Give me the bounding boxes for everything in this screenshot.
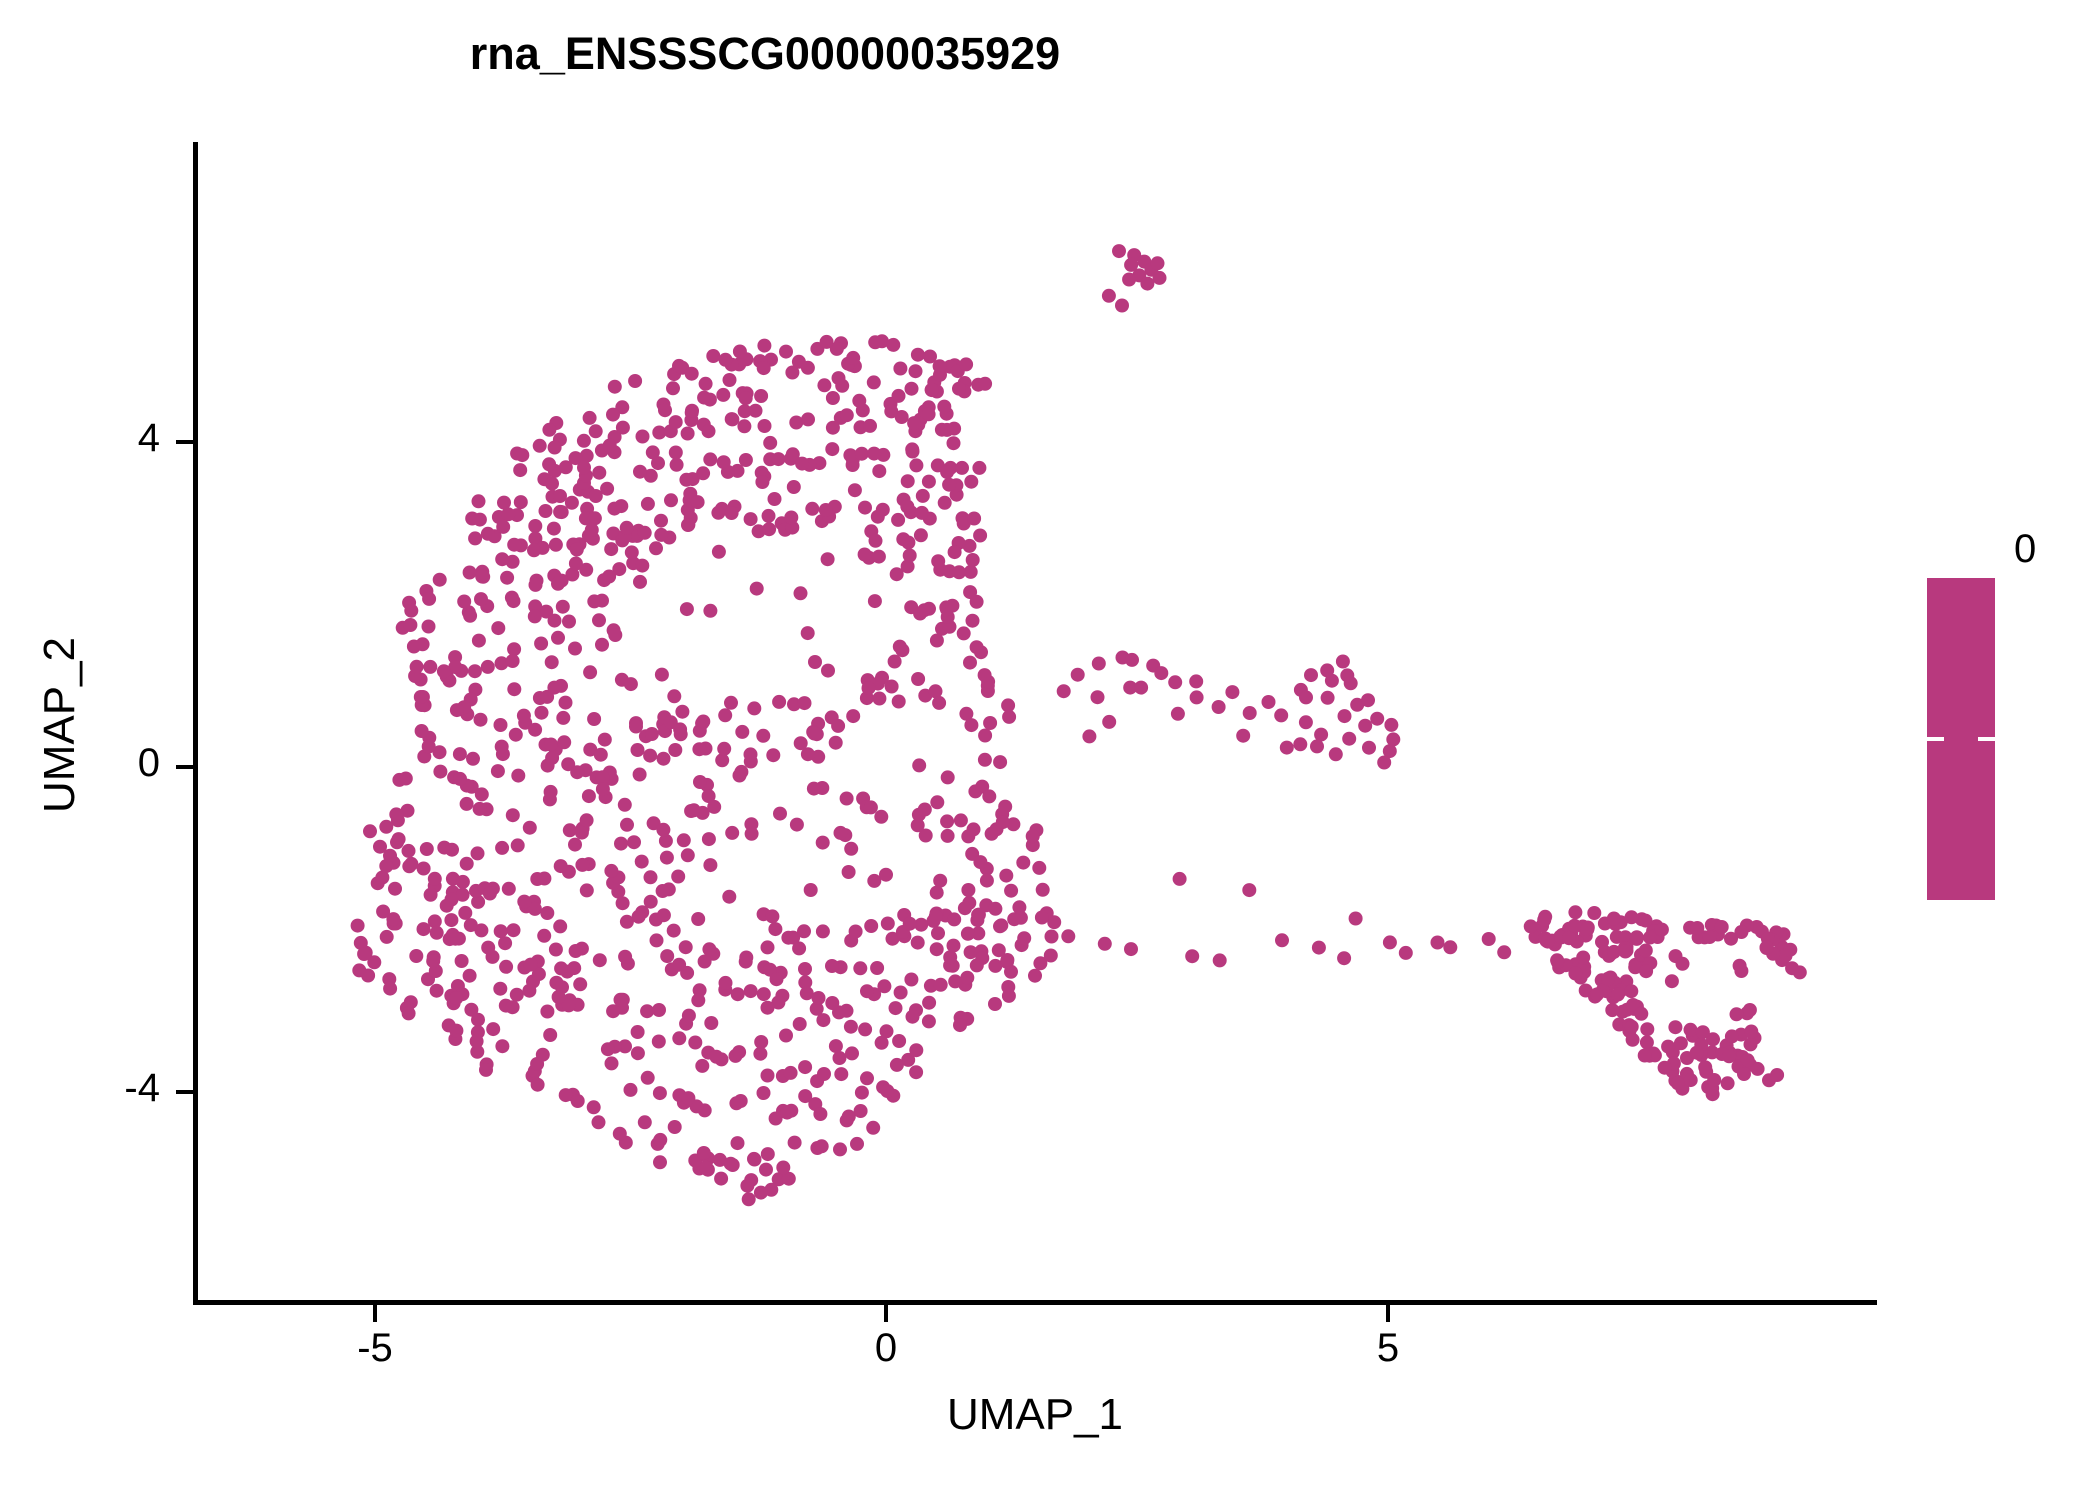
scatter-point	[761, 1147, 775, 1161]
scatter-point	[429, 964, 443, 978]
scatter-point	[1338, 709, 1352, 723]
scatter-point	[918, 404, 932, 418]
scatter-point	[571, 998, 585, 1012]
scatter-point	[725, 358, 739, 372]
scatter-point	[1760, 940, 1774, 954]
scatter-point	[529, 578, 543, 592]
scatter-point	[825, 996, 839, 1010]
scatter-point	[723, 373, 737, 387]
scatter-point	[657, 398, 671, 412]
scatter-point	[596, 770, 610, 784]
scatter-point	[748, 1153, 762, 1167]
scatter-point	[896, 532, 910, 546]
scatter-point	[546, 490, 560, 504]
scatter-point	[732, 1045, 746, 1059]
scatter-point	[486, 1022, 500, 1036]
scatter-point	[684, 511, 698, 525]
scatter-point	[992, 943, 1006, 957]
scatter-point	[357, 947, 371, 961]
scatter-point	[940, 814, 954, 828]
scatter-point	[699, 377, 713, 391]
scatter-point	[1687, 1027, 1701, 1041]
scatter-point	[906, 445, 920, 459]
scatter-point	[938, 496, 952, 510]
scatter-point	[359, 946, 373, 960]
scatter-point	[1154, 666, 1168, 680]
x-tick-mark-5	[1386, 1305, 1390, 1322]
scatter-point	[1579, 984, 1593, 998]
scatter-point	[930, 795, 944, 809]
scatter-point	[1112, 244, 1126, 258]
scatter-point	[979, 898, 993, 912]
scatter-point	[714, 1172, 728, 1186]
scatter-point	[1040, 906, 1054, 920]
scatter-point	[495, 656, 509, 670]
scatter-point	[688, 1154, 702, 1168]
scatter-point	[382, 972, 396, 986]
scatter-point	[703, 393, 717, 407]
scatter-point	[719, 976, 733, 990]
scatter-point	[1769, 925, 1783, 939]
scatter-point	[549, 943, 563, 957]
scatter-point	[885, 680, 899, 694]
scatter-point	[688, 1036, 702, 1050]
scatter-point	[665, 962, 679, 976]
scatter-point	[784, 1104, 798, 1118]
scatter-point	[1115, 299, 1129, 313]
scatter-point	[1696, 1025, 1710, 1039]
scatter-point	[1137, 255, 1151, 269]
scatter-point	[1242, 883, 1256, 897]
scatter-point	[463, 566, 477, 580]
scatter-point	[465, 780, 479, 794]
scatter-point	[674, 727, 688, 741]
scatter-point	[592, 1115, 606, 1129]
scatter-point	[773, 807, 787, 821]
scatter-point	[830, 342, 844, 356]
scatter-point	[1766, 947, 1780, 961]
scatter-point	[849, 925, 863, 939]
scatter-point	[715, 753, 729, 767]
scatter-point	[681, 1091, 695, 1105]
scatter-point	[846, 709, 860, 723]
scatter-point	[771, 452, 785, 466]
scatter-point	[970, 640, 984, 654]
scatter-point	[1595, 973, 1609, 987]
scatter-point	[530, 872, 544, 886]
scatter-point	[1639, 944, 1653, 958]
scatter-point	[1666, 1064, 1680, 1078]
scatter-point	[402, 596, 416, 610]
scatter-point	[918, 803, 932, 817]
scatter-point	[834, 960, 848, 974]
scatter-point	[1568, 967, 1582, 981]
scatter-point	[733, 345, 747, 359]
scatter-point	[808, 655, 822, 669]
scatter-point	[408, 669, 422, 683]
scatter-point	[527, 543, 541, 557]
scatter-point	[957, 626, 971, 640]
scatter-point	[1608, 976, 1622, 990]
scatter-point	[828, 500, 842, 514]
scatter-point	[1545, 934, 1559, 948]
scatter-point	[675, 361, 689, 375]
scatter-point	[505, 591, 519, 605]
scatter-point	[769, 1112, 783, 1126]
scatter-point	[559, 1088, 573, 1102]
scatter-point	[871, 510, 885, 524]
scatter-point	[460, 707, 474, 721]
colorbar[interactable]	[1927, 578, 1995, 900]
scatter-point	[608, 380, 622, 394]
scatter-point	[1730, 1007, 1744, 1021]
scatter-point	[909, 1003, 923, 1017]
scatter-point	[417, 922, 431, 936]
scatter-point	[494, 718, 508, 732]
scatter-point	[993, 919, 1007, 933]
scatter-point	[934, 978, 948, 992]
scatter-point	[739, 453, 753, 467]
scatter-point	[757, 1086, 771, 1100]
scatter-point	[463, 609, 477, 623]
scatter-point	[1185, 949, 1199, 963]
scatter-point	[825, 959, 839, 973]
scatter-point	[967, 822, 981, 836]
scatter-point	[1598, 945, 1612, 959]
scatter-point	[645, 727, 659, 741]
scatter-point	[1785, 961, 1799, 975]
scatter-point	[798, 962, 812, 976]
scatter-point	[960, 971, 974, 985]
scatter-point	[1127, 248, 1141, 262]
scatter-point	[1622, 1018, 1636, 1032]
scatter-point	[941, 770, 955, 784]
scatter-point	[1555, 928, 1569, 942]
scatter-point	[469, 884, 483, 898]
scatter-point	[867, 874, 881, 888]
scatter-point	[1562, 922, 1576, 936]
scatter-point	[387, 917, 401, 931]
scatter-point	[858, 1022, 872, 1036]
scatter-point	[604, 864, 618, 878]
scatter-point	[653, 1133, 667, 1147]
scatter-point	[713, 1153, 727, 1167]
scatter-point	[860, 984, 874, 998]
scatter-point	[1538, 932, 1552, 946]
scatter-point	[908, 424, 922, 438]
scatter-point	[392, 832, 406, 846]
scatter-point	[1612, 1018, 1626, 1032]
scatter-point	[963, 539, 977, 553]
scatter-point	[850, 1137, 864, 1151]
scatter-point	[1102, 289, 1116, 303]
scatter-point	[1082, 729, 1096, 743]
scatter-point	[582, 529, 596, 543]
scatter-point	[1293, 737, 1307, 751]
scatter-point	[616, 421, 630, 435]
scatter-point	[838, 828, 852, 842]
scatter-point	[786, 931, 800, 945]
scatter-point	[577, 476, 591, 490]
scatter-point	[940, 465, 954, 479]
scatter-point	[1026, 829, 1040, 843]
scatter-point	[707, 800, 721, 814]
scatter-point	[1658, 1061, 1672, 1075]
scatter-point	[577, 461, 591, 475]
scatter-point	[1004, 965, 1018, 979]
scatter-point	[448, 1032, 462, 1046]
scatter-point	[812, 456, 826, 470]
scatter-point	[497, 496, 511, 510]
scatter-point	[1699, 1065, 1713, 1079]
scatter-point	[1000, 953, 1014, 967]
scatter-point	[402, 844, 416, 858]
scatter-point	[786, 447, 800, 461]
scatter-point	[784, 511, 798, 525]
scatter-point	[1325, 674, 1339, 688]
scatter-point	[677, 1096, 691, 1110]
scatter-point	[798, 696, 812, 710]
scatter-point	[890, 567, 904, 581]
scatter-point	[1140, 277, 1154, 291]
scatter-point	[1125, 653, 1139, 667]
scatter-point	[582, 789, 596, 803]
scatter-point	[449, 991, 463, 1005]
scatter-point	[1320, 663, 1334, 677]
scatter-point	[1698, 1060, 1712, 1074]
scatter-point	[1568, 905, 1582, 919]
scatter-point	[389, 807, 403, 821]
scatter-point	[901, 1053, 915, 1067]
scatter-point	[798, 1060, 812, 1074]
scatter-point	[571, 1094, 585, 1108]
scatter-point	[570, 765, 584, 779]
scatter-point	[1541, 935, 1555, 949]
scatter-point	[614, 837, 628, 851]
scatter-point	[1630, 1000, 1644, 1014]
scatter-point	[917, 603, 931, 617]
scatter-point	[719, 353, 733, 367]
scatter-point	[1610, 930, 1624, 944]
scatter-point	[444, 989, 458, 1003]
scatter-point	[628, 374, 642, 388]
scatter-point	[901, 474, 915, 488]
scatter-point	[528, 519, 542, 533]
scatter-point	[672, 1031, 686, 1045]
scatter-point	[731, 464, 745, 478]
scatter-point	[614, 499, 628, 513]
scatter-point	[580, 883, 594, 897]
scatter-point	[819, 503, 833, 517]
scatter-point	[453, 772, 467, 786]
scatter-point	[738, 404, 752, 418]
scatter-point	[528, 609, 542, 623]
scatter-point	[932, 696, 946, 710]
scatter-point	[716, 388, 730, 402]
scatter-point	[595, 594, 609, 608]
scatter-point	[740, 386, 754, 400]
scatter-point	[514, 538, 528, 552]
scatter-point	[440, 899, 454, 913]
scatter-point	[935, 622, 949, 636]
scatter-point	[1146, 659, 1160, 673]
scatter-point	[608, 445, 622, 459]
scatter-point	[764, 1183, 778, 1197]
scatter-point	[618, 1039, 632, 1053]
scatter-point	[615, 1001, 629, 1015]
scatter-point	[978, 729, 992, 743]
scatter-point	[930, 886, 944, 900]
scatter-point	[739, 951, 753, 965]
scatter-point	[846, 458, 860, 472]
scatter-point	[626, 529, 640, 543]
scatter-point	[553, 505, 567, 519]
scatter-point	[844, 358, 858, 372]
scatter-point	[1646, 924, 1660, 938]
scatter-point	[537, 929, 551, 943]
scatter-point	[912, 758, 926, 772]
scatter-point	[448, 650, 462, 664]
scatter-point	[680, 602, 694, 616]
scatter-point	[862, 681, 876, 695]
scatter-point	[523, 821, 537, 835]
scatter-point	[583, 411, 597, 425]
scatter-point	[1386, 732, 1400, 746]
scatter-point	[418, 698, 432, 712]
scatter-point	[736, 386, 750, 400]
scatter-point	[553, 919, 567, 933]
scatter-point	[1314, 728, 1328, 742]
scatter-point	[725, 826, 739, 840]
scatter-point	[478, 881, 492, 895]
scatter-point	[573, 537, 587, 551]
scatter-point	[810, 1074, 824, 1088]
scatter-point	[1635, 912, 1649, 926]
scatter-point	[430, 984, 444, 998]
scatter-point	[1690, 921, 1704, 935]
scatter-point	[1535, 919, 1549, 933]
scatter-point	[918, 689, 932, 703]
scatter-point	[549, 538, 563, 552]
scatter-point	[493, 982, 507, 996]
scatter-point	[1275, 933, 1289, 947]
scatter-point	[690, 1099, 704, 1113]
scatter-point	[988, 997, 1002, 1011]
scatter-point	[886, 338, 900, 352]
scatter-point	[1741, 1053, 1755, 1067]
scatter-point	[630, 529, 644, 543]
scatter-point	[699, 1161, 713, 1175]
scatter-point	[592, 466, 606, 480]
scatter-point	[392, 773, 406, 787]
scatter-point	[533, 691, 547, 705]
scatter-point	[1580, 922, 1594, 936]
scatter-point	[790, 818, 804, 832]
scatter-point	[1675, 1082, 1689, 1096]
scatter-point	[554, 679, 568, 693]
scatter-point	[453, 747, 467, 761]
scatter-point	[842, 865, 856, 879]
scatter-point	[872, 550, 886, 564]
x-tick-label-neg5: -5	[315, 1328, 435, 1368]
scatter-point	[874, 810, 888, 824]
scatter-point	[565, 568, 579, 582]
scatter-point	[495, 740, 509, 754]
scatter-point	[978, 377, 992, 391]
scatter-point	[654, 528, 668, 542]
y-tick-mark-neg4	[176, 1090, 193, 1094]
scatter-point	[703, 858, 717, 872]
scatter-point	[947, 436, 961, 450]
scatter-point	[1243, 706, 1257, 720]
scatter-point	[800, 986, 814, 1000]
scatter-point	[1725, 1029, 1739, 1043]
scatter-point	[608, 628, 622, 642]
scatter-point	[699, 742, 713, 756]
scatter-point	[625, 545, 639, 559]
scatter-point	[454, 664, 468, 678]
scatter-point	[868, 335, 882, 349]
scatter-point	[702, 832, 716, 846]
scatter-point	[685, 406, 699, 420]
scatter-point	[856, 403, 870, 417]
scatter-point	[420, 842, 434, 856]
scatter-point	[892, 1034, 906, 1048]
scatter-point	[1760, 941, 1774, 955]
scatter-point	[575, 942, 589, 956]
scatter-point	[1299, 690, 1313, 704]
scatter-point	[543, 1028, 557, 1042]
scatter-point	[417, 862, 431, 876]
scatter-point	[792, 355, 806, 369]
scatter-point	[633, 575, 647, 589]
scatter-point	[735, 725, 749, 739]
scatter-point	[474, 592, 488, 606]
scatter-point	[961, 829, 975, 843]
scatter-point	[1538, 910, 1552, 924]
scatter-point	[668, 1120, 682, 1134]
scatter-point	[1626, 998, 1640, 1012]
scatter-point	[709, 1050, 723, 1064]
scatter-point	[959, 707, 973, 721]
scatter-point	[443, 932, 457, 946]
scatter-point	[415, 698, 429, 712]
scatter-point	[587, 1100, 601, 1114]
scatter-point	[528, 532, 542, 546]
scatter-point	[670, 458, 684, 472]
scatter-point	[955, 461, 969, 475]
scatter-point	[728, 500, 742, 514]
scatter-point	[1564, 926, 1578, 940]
scatter-point	[931, 554, 945, 568]
scatter-point	[445, 893, 459, 907]
scatter-point	[860, 800, 874, 814]
scatter-point	[1002, 710, 1016, 724]
scatter-point	[684, 413, 698, 427]
scatter-point	[499, 960, 513, 974]
scatter-point	[460, 797, 474, 811]
scatter-point	[815, 514, 829, 528]
scatter-point	[990, 822, 1004, 836]
scatter-point	[817, 378, 831, 392]
scatter-point	[1132, 268, 1146, 282]
scatter-point	[618, 798, 632, 812]
scatter-point	[631, 743, 645, 757]
scatter-point	[646, 445, 660, 459]
scatter-point	[1683, 921, 1697, 935]
scatter-point	[611, 885, 625, 899]
scatter-point	[776, 1161, 790, 1175]
